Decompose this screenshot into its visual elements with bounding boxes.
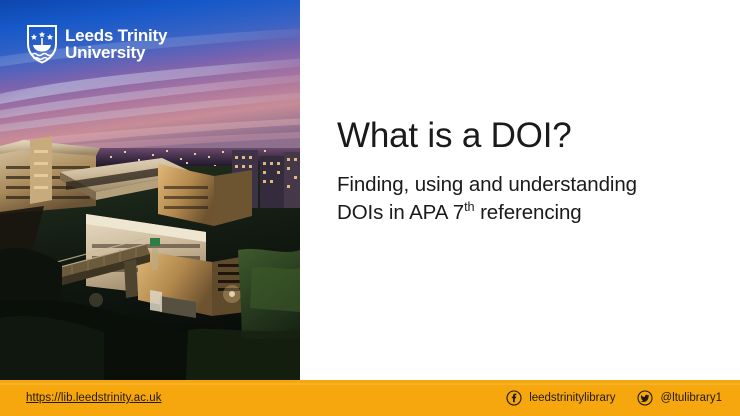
- subtitle-line-2-pre: DOIs in APA 7: [337, 201, 464, 224]
- page-title: What is a DOI?: [337, 116, 572, 156]
- footer-divider: [0, 383, 740, 385]
- logo-wordmark: Leeds Trinity University: [65, 27, 167, 62]
- facebook-icon: [506, 390, 522, 406]
- library-website-link[interactable]: https://lib.leedstrinity.ac.uk: [26, 392, 162, 404]
- slide-subtitle: Finding, using and understanding DOIs in…: [337, 171, 637, 227]
- slide-content: What is a DOI? Finding, using and unders…: [337, 0, 729, 380]
- footer-bar: https://lib.leedstrinity.ac.uk leedstrin…: [0, 380, 740, 416]
- twitter-icon: [637, 390, 653, 406]
- social-links: leedstrinitylibrary @ltulibrary1: [506, 390, 722, 406]
- twitter-link[interactable]: @ltulibrary1: [637, 390, 722, 406]
- shield-crest-icon: [26, 24, 58, 64]
- facebook-handle: leedstrinitylibrary: [529, 392, 615, 404]
- twitter-handle: @ltulibrary1: [660, 392, 722, 404]
- logo-line-2: University: [65, 44, 167, 61]
- facebook-link[interactable]: leedstrinitylibrary: [506, 390, 615, 406]
- subtitle-line-1: Finding, using and understanding: [337, 173, 637, 196]
- logo-line-1: Leeds Trinity: [65, 27, 167, 44]
- leeds-trinity-university-logo: Leeds Trinity University: [26, 24, 167, 64]
- presentation-slide: Leeds Trinity University What is a DOI? …: [0, 0, 740, 416]
- subtitle-ordinal-suffix: th: [464, 199, 474, 214]
- subtitle-line-2-post: referencing: [474, 201, 581, 224]
